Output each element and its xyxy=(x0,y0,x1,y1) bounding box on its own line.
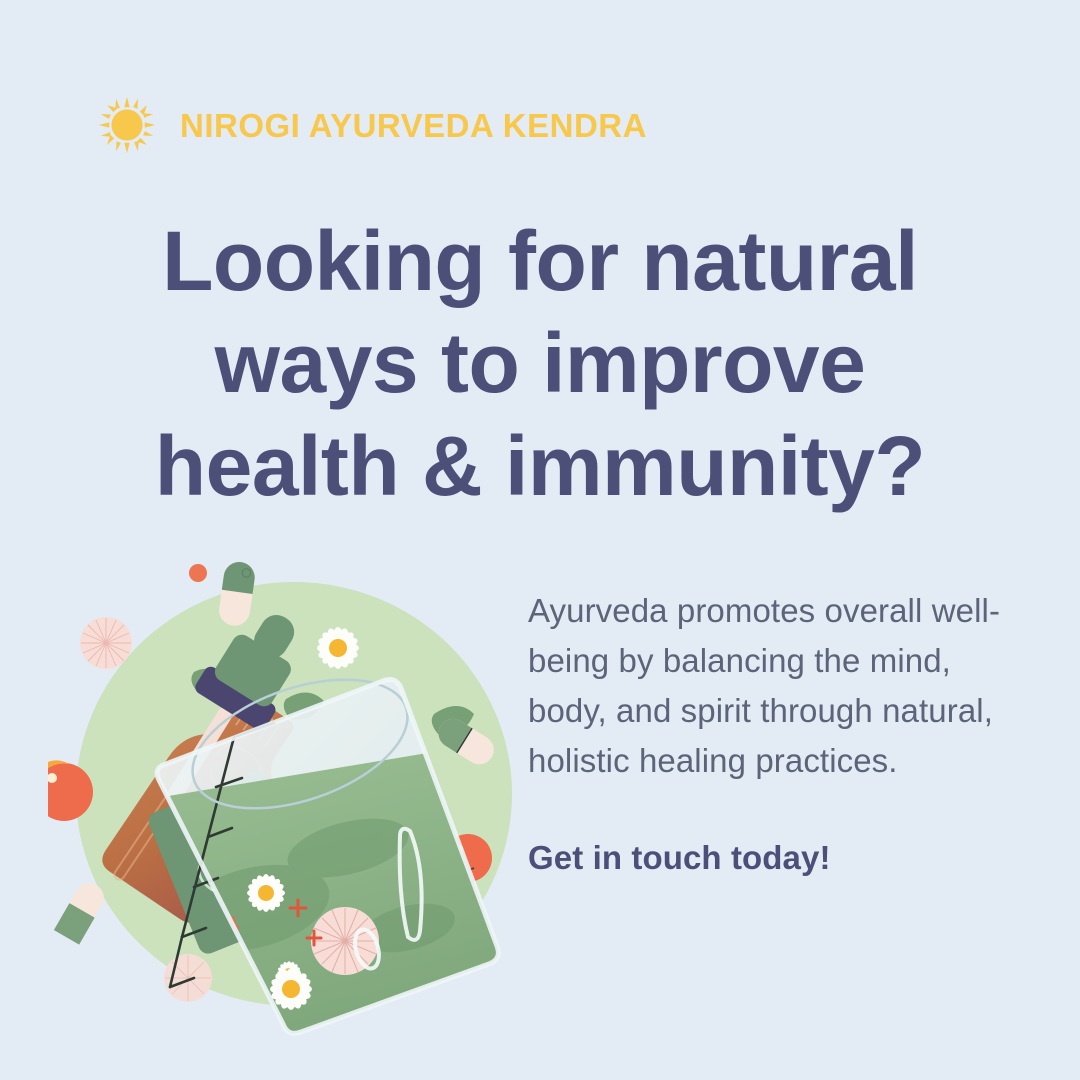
headline-line-1: Looking for natural xyxy=(60,210,1020,312)
headline: Looking for natural ways to improve heal… xyxy=(0,210,1080,517)
headline-line-3: health & immunity? xyxy=(60,415,1020,517)
liquid-flower-disc xyxy=(311,907,379,975)
body-paragraph: Ayurveda promotes overall well-being by … xyxy=(528,586,1008,787)
cta-text: Get in touch today! xyxy=(528,839,1008,877)
headline-line-2: ways to improve xyxy=(60,312,1020,414)
copy-column: Ayurveda promotes overall well-being by … xyxy=(528,586,1008,877)
sun-icon xyxy=(90,88,164,162)
brand-lockup: NIROGI AYURVEDA KENDRA xyxy=(90,88,647,162)
ayurveda-beaker-illustration xyxy=(48,548,528,1038)
brand-name: NIROGI AYURVEDA KENDRA xyxy=(180,109,647,142)
